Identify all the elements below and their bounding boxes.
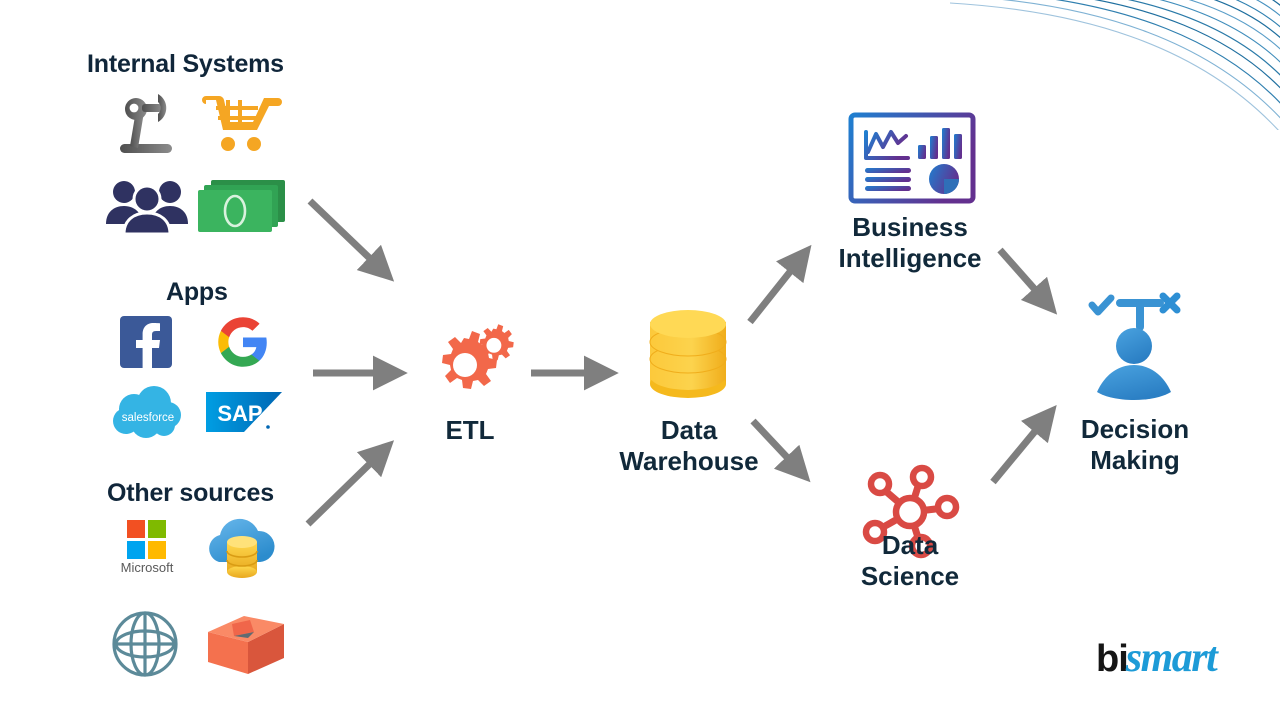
- database-cylinder-icon: [645, 306, 731, 402]
- robot-arm-icon: [106, 88, 186, 160]
- cloud-database-icon: [199, 512, 283, 584]
- shopping-cart-icon: [202, 92, 282, 158]
- google-icon: [216, 315, 270, 369]
- node-label-etl: ETL: [410, 415, 530, 446]
- group-title-apps: Apps: [166, 278, 228, 307]
- people-group-icon: [104, 174, 190, 236]
- dashboard-icon: [848, 112, 976, 204]
- money-stack-icon: [197, 178, 289, 234]
- node-label-business-intelligence: Business Intelligence: [795, 212, 1025, 273]
- logo-text-smart: smart: [1126, 634, 1217, 682]
- facebook-icon: [120, 316, 172, 368]
- sap-icon: SAP: [206, 390, 282, 436]
- gears-icon: [420, 308, 520, 404]
- microsoft-icon: Microsoft: [118, 518, 176, 576]
- group-title-other-sources: Other sources: [107, 479, 274, 508]
- package-box-icon: [204, 610, 288, 676]
- diagram-canvas: Internal Systems: [0, 0, 1280, 719]
- node-label-data-warehouse: Data Warehouse: [574, 415, 804, 476]
- globe-icon: [108, 608, 182, 680]
- decorative-arcs: [950, 0, 1280, 130]
- logo-text-bi: bi: [1096, 638, 1128, 681]
- microsoft-wordmark: Microsoft: [121, 560, 174, 575]
- group-title-internal-systems: Internal Systems: [87, 50, 284, 79]
- salesforce-icon: salesforce: [110, 385, 186, 441]
- svg-text:SAP: SAP: [217, 401, 262, 426]
- arrow-dw-to-bi: [750, 258, 801, 322]
- bismart-logo: bi smart: [1096, 634, 1216, 682]
- arrow-internal-to-etl: [310, 201, 382, 270]
- node-label-data-science: Data Science: [795, 530, 1025, 591]
- node-label-decision-making: Decision Making: [1020, 414, 1250, 475]
- arrow-other-to-etl: [308, 452, 382, 524]
- person-decision-icon: [1078, 292, 1188, 400]
- svg-text:salesforce: salesforce: [122, 412, 174, 424]
